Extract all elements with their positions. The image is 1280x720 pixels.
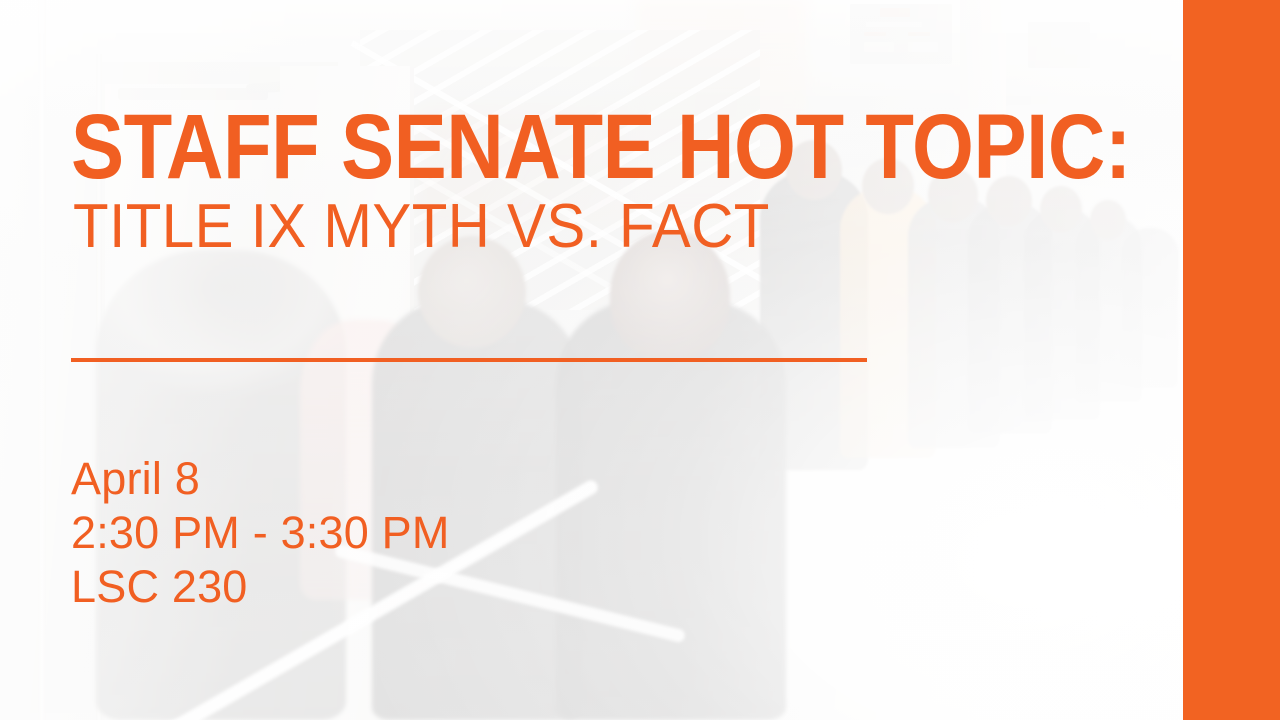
page-title-line-1: STAFF SENATE HOT TOPIC: (71, 101, 1131, 193)
orange-accent-bar (1183, 0, 1280, 720)
divider-rule (71, 358, 867, 362)
event-time: 2:30 PM - 3:30 PM (71, 506, 771, 560)
event-location: LSC 230 (71, 560, 771, 614)
event-date: April 8 (71, 452, 771, 506)
event-promo-slide: STAFF SENATE HOT TOPIC: TITLE IX MYTH VS… (0, 0, 1280, 720)
page-title-line-2: TITLE IX MYTH VS. FACT (73, 196, 770, 258)
text-content: STAFF SENATE HOT TOPIC: TITLE IX MYTH VS… (71, 0, 1171, 720)
event-details: April 8 2:30 PM - 3:30 PM LSC 230 (71, 452, 771, 614)
